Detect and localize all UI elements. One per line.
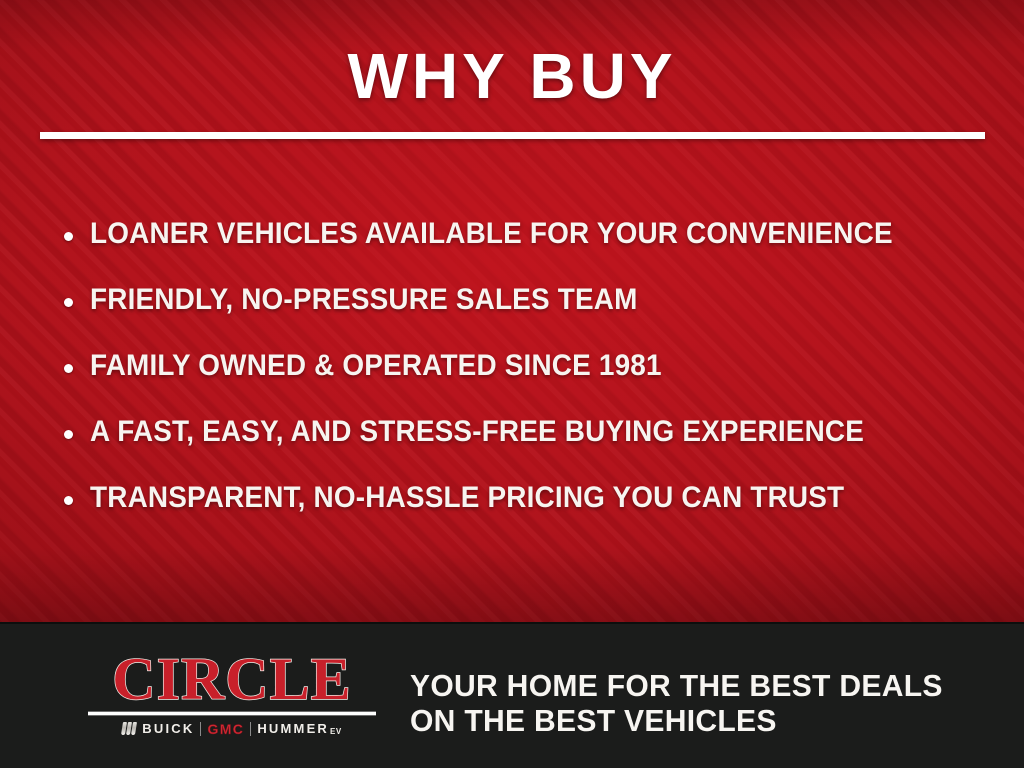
slide-root: WHY BUY LOANER VEHICLES AVAILABLE FOR YO… <box>0 0 1024 768</box>
buick-tri-shield-icon <box>122 722 136 735</box>
brand-separator <box>200 722 201 736</box>
footer-tagline: YOUR HOME FOR THE BEST DEALS ON THE BEST… <box>410 668 943 738</box>
dealer-logo-wordmark: CIRCLE <box>88 650 376 708</box>
list-item: TRANSPARENT, NO-HASSLE PRICING YOU CAN T… <box>64 482 984 548</box>
bullet-dot-icon <box>64 298 73 307</box>
list-item-label: FAMILY OWNED & OPERATED SINCE 1981 <box>90 350 662 382</box>
footer-tagline-line-2: ON THE BEST VEHICLES <box>410 703 943 738</box>
bullet-dot-icon <box>64 430 73 439</box>
title-underline-rule <box>40 132 985 139</box>
list-item-label: TRANSPARENT, NO-HASSLE PRICING YOU CAN T… <box>90 482 844 514</box>
brand-label-hummer-ev-suffix: EV <box>330 727 342 736</box>
list-item-label: FRIENDLY, NO-PRESSURE SALES TEAM <box>90 284 638 316</box>
bullet-dot-icon <box>64 232 73 241</box>
list-item-label: LOANER VEHICLES AVAILABLE FOR YOUR CONVE… <box>90 218 893 250</box>
brand-label-hummer-group: HUMMER EV <box>257 721 341 736</box>
brand-label-hummer: HUMMER <box>257 721 329 736</box>
bullet-dot-icon <box>64 364 73 373</box>
page-title: WHY BUY <box>0 44 1024 108</box>
bullet-dot-icon <box>64 496 73 505</box>
brand-separator <box>250 722 251 736</box>
footer-bar: CIRCLE BUICK GMC HUMMER EV YOUR HOME FOR… <box>0 622 1024 768</box>
list-item: FRIENDLY, NO-PRESSURE SALES TEAM <box>64 284 984 350</box>
footer-tagline-line-1: YOUR HOME FOR THE BEST DEALS <box>410 668 943 703</box>
brand-label-gmc: GMC <box>207 721 244 737</box>
dealer-logo: CIRCLE BUICK GMC HUMMER EV <box>88 650 376 737</box>
benefits-list: LOANER VEHICLES AVAILABLE FOR YOUR CONVE… <box>64 218 984 548</box>
list-item: LOANER VEHICLES AVAILABLE FOR YOUR CONVE… <box>64 218 984 284</box>
list-item: A FAST, EASY, AND STRESS-FREE BUYING EXP… <box>64 416 984 482</box>
brand-strip: BUICK GMC HUMMER EV <box>88 720 376 737</box>
list-item-label: A FAST, EASY, AND STRESS-FREE BUYING EXP… <box>90 416 864 448</box>
list-item: FAMILY OWNED & OPERATED SINCE 1981 <box>64 350 984 416</box>
hero-section: WHY BUY LOANER VEHICLES AVAILABLE FOR YO… <box>0 0 1024 622</box>
brand-label-buick: BUICK <box>142 721 194 736</box>
